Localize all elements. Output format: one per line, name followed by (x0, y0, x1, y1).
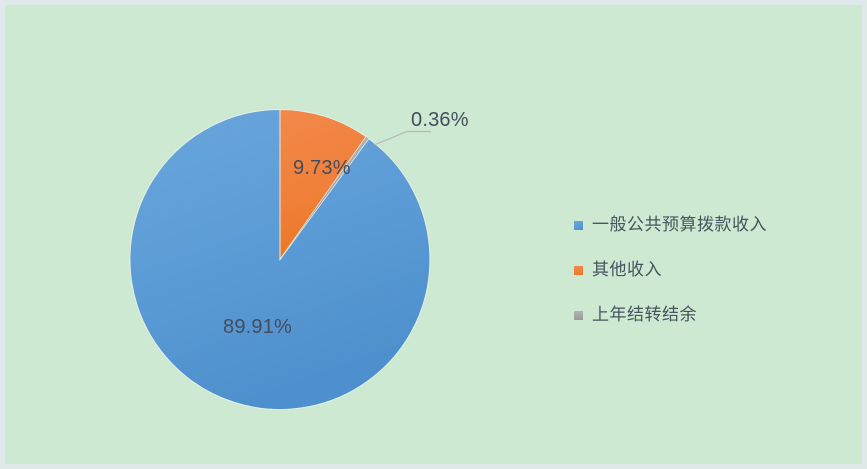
pie-graphic (5, 5, 535, 464)
chart-legend: 一般公共预算拨款收入 其他收入 上年结转结余 (574, 203, 854, 338)
legend-swatch-icon (574, 266, 583, 275)
legend-swatch-icon (574, 221, 583, 230)
slice-value-label-general-public-budget: 89.91% (223, 316, 292, 339)
legend-item-other-income[interactable]: 其他收入 (574, 248, 854, 293)
slice-value-label-other-income: 9.73% (293, 157, 351, 180)
pie-plot-area: 89.91% 9.73% 0.36% (5, 5, 535, 464)
slice-value-label-prior-year-carryover: 0.36% (411, 109, 469, 132)
legend-item-prior-year-carryover[interactable]: 上年结转结余 (574, 293, 854, 338)
legend-label-general-public-budget: 一般公共预算拨款收入 (592, 217, 767, 234)
legend-label-prior-year-carryover: 上年结转结余 (592, 307, 697, 324)
legend-label-other-income: 其他收入 (592, 262, 662, 279)
legend-item-general-public-budget[interactable]: 一般公共预算拨款收入 (574, 203, 854, 248)
legend-swatch-icon (574, 311, 583, 320)
leader-line-prior-year-carryover (374, 132, 431, 146)
pie-chart-container: 89.91% 9.73% 0.36% 一般公共预算拨款收入 其他收入 上年结转结… (5, 5, 862, 464)
